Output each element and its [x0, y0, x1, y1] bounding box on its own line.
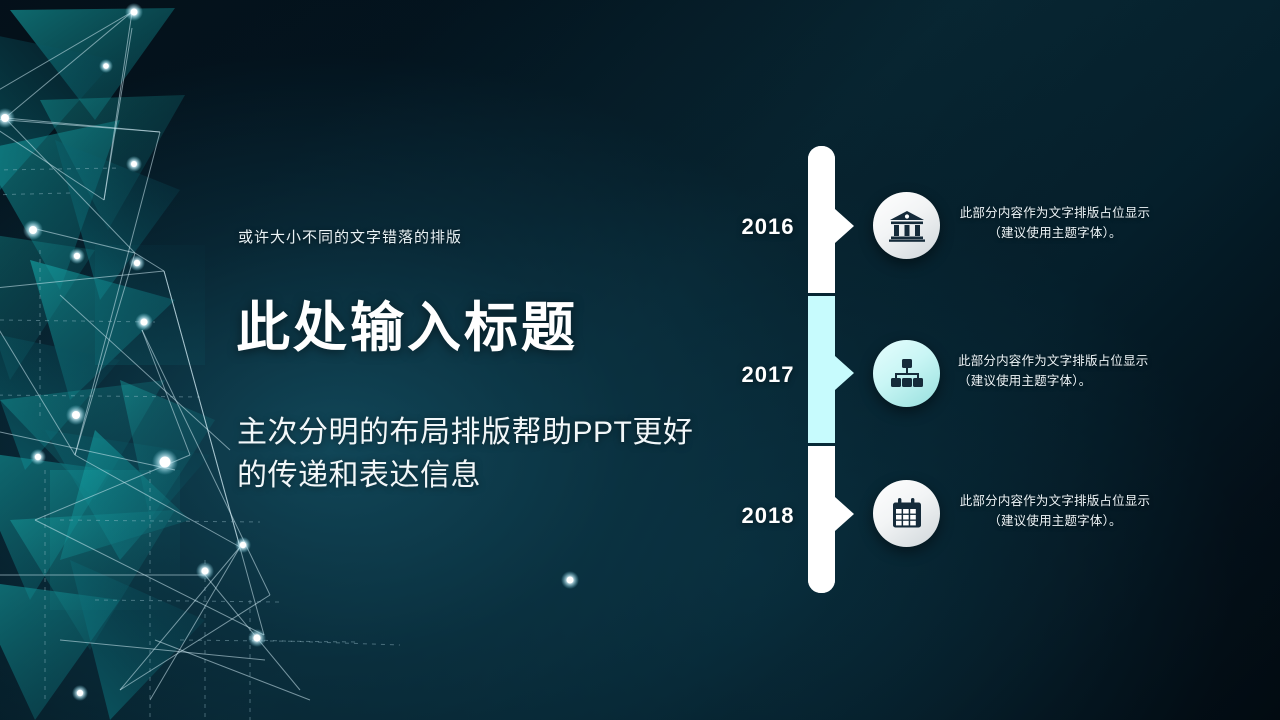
timeline-arrow-2016	[835, 209, 854, 243]
timeline-description-2017: 此部分内容作为文字排版占位显示（建议使用主题字体）。	[958, 351, 1150, 392]
timeline-bar-cap-bottom	[808, 567, 835, 593]
slide-canvas: 或许大小不同的文字错落的排版 此处输入标题 主次分明的布局排版帮助PPT更好的传…	[0, 0, 1280, 720]
timeline-icon-bubble-2017[interactable]	[873, 340, 940, 407]
timeline-description-2018: 此部分内容作为文字排版占位显示（建议使用主题字体）。	[952, 491, 1158, 532]
timeline-year-2018: 2018	[708, 503, 828, 529]
timeline-arrow-2018	[835, 497, 854, 531]
page-title: 此处输入标题	[236, 283, 578, 362]
eyebrow-text: 或许大小不同的文字错落的排版	[238, 226, 462, 247]
network-node-stray	[550, 560, 600, 610]
timeline-year-2016: 2016	[708, 214, 828, 240]
timeline-icon-bubble-2016[interactable]	[873, 192, 940, 259]
timeline-year-2017: 2017	[708, 362, 828, 388]
timeline-description-2016: 此部分内容作为文字排版占位显示（建议使用主题字体）。	[952, 203, 1158, 244]
org-chart-icon	[890, 359, 924, 389]
calendar-icon	[891, 498, 923, 530]
timeline-icon-bubble-2018[interactable]	[873, 480, 940, 547]
bank-icon	[889, 210, 925, 242]
polygon-cluster	[0, 8, 215, 720]
lede-text: 主次分明的布局排版帮助PPT更好的传递和表达信息	[237, 412, 697, 497]
timeline-arrow-2017	[835, 356, 854, 390]
